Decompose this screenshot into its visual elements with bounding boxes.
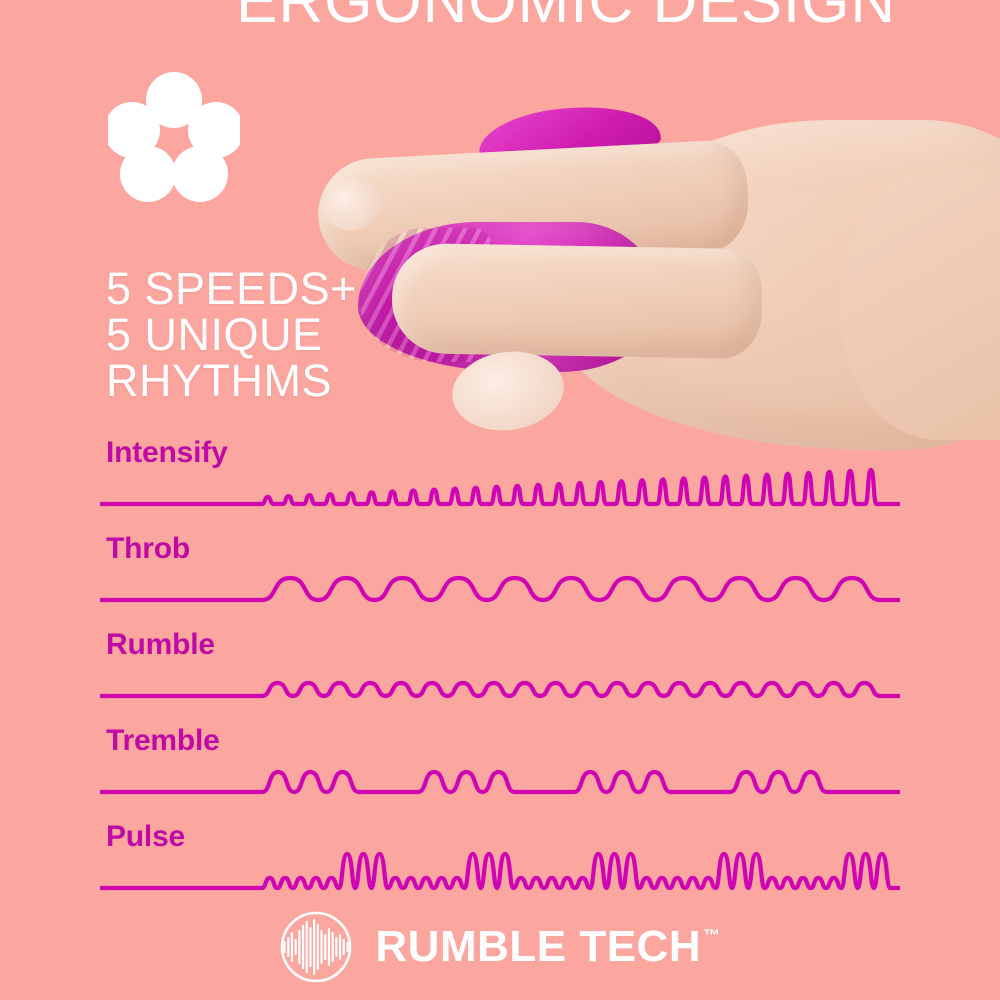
waveform-pulse bbox=[100, 814, 900, 910]
index-fingernail bbox=[315, 170, 388, 238]
product-pink-cap bbox=[634, 268, 714, 351]
product-feature-graphic: ERGONOMIC DESIGN 5 SPEEDS+ 5 UNIQUE RHYT… bbox=[0, 0, 1000, 1000]
page-title: ERGONOMIC DESIGN bbox=[236, 22, 936, 142]
waveform-path-throb bbox=[100, 578, 900, 600]
waveform-path-intensify bbox=[100, 470, 900, 504]
trademark-symbol: ™ bbox=[703, 926, 721, 946]
rhythm-row-throb: Throb bbox=[0, 526, 1000, 622]
waveform-path-pulse bbox=[100, 854, 900, 888]
middle-finger bbox=[391, 243, 763, 359]
speeds-line-3: RHYTHMS bbox=[106, 358, 357, 404]
waveform-intensify bbox=[100, 430, 900, 526]
product-ribbed-texture bbox=[360, 228, 500, 362]
rhythm-row-pulse: Pulse bbox=[0, 814, 1000, 910]
brand-name: RUMBLE TECH bbox=[375, 922, 701, 972]
waveform-path-rumble bbox=[100, 683, 900, 696]
waveform-tremble bbox=[100, 718, 900, 814]
wrist bbox=[840, 170, 1000, 440]
rhythm-row-tremble: Tremble bbox=[0, 718, 1000, 814]
five-circles-cluster-icon bbox=[108, 70, 240, 202]
speeds-line-2: 5 UNIQUE bbox=[106, 312, 357, 358]
waveform-rumble bbox=[100, 622, 900, 718]
index-finger bbox=[315, 139, 750, 273]
product-gold-band bbox=[614, 267, 653, 356]
waveform-throb bbox=[100, 526, 900, 622]
waveform-path-tremble bbox=[100, 772, 900, 792]
rhythm-row-intensify: Intensify bbox=[0, 430, 1000, 526]
speeds-line-1: 5 SPEEDS+ bbox=[106, 266, 357, 312]
sound-wave-circle-icon bbox=[279, 910, 353, 984]
speeds-block: 5 SPEEDS+ 5 UNIQUE RHYTHMS bbox=[106, 266, 357, 404]
product-body bbox=[358, 222, 658, 372]
thumbnail bbox=[447, 345, 569, 438]
brand-lockup: RUMBLE TECH ™ bbox=[0, 910, 1000, 984]
rhythm-row-rumble: Rumble bbox=[0, 622, 1000, 718]
hand-back bbox=[560, 120, 1000, 450]
rhythm-list: Intensify Throb Rumble bbox=[0, 430, 1000, 910]
headline-text: ERGONOMIC DESIGN bbox=[236, 0, 896, 36]
brand-name-wrap: RUMBLE TECH ™ bbox=[375, 922, 720, 972]
